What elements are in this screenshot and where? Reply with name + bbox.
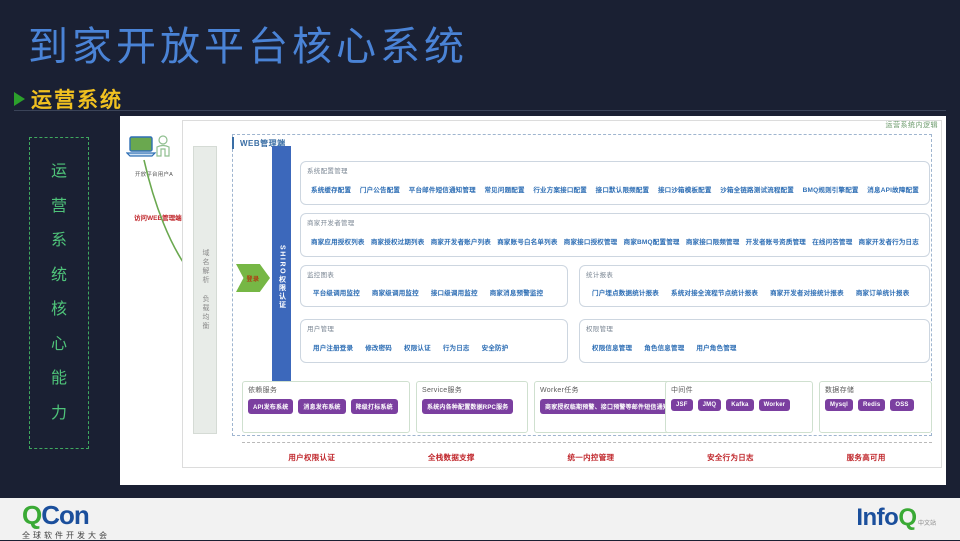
- logic-tag-label: 运营系统内逻辑: [886, 120, 939, 130]
- capability-vertical-box: 运 营 系 统 核 心 能 力: [29, 137, 89, 449]
- infra-chip[interactable]: Mysql: [825, 399, 853, 411]
- module-permission-management[interactable]: 权限管理 权限信息管理 角色信息管理 用户角色管理: [579, 319, 930, 363]
- module-item[interactable]: 商家订单统计报表: [856, 287, 910, 297]
- infra-title: 依赖服务: [248, 385, 404, 395]
- module-item[interactable]: 商家授权过期列表: [371, 236, 425, 246]
- infra-chip[interactable]: 系统内各种配置数据RPC服务: [422, 399, 513, 414]
- module-title: 商家开发者管理: [307, 217, 923, 227]
- module-items: 用户注册登录 修改密码 权限认证 行为日志 安全防护: [307, 333, 561, 361]
- module-item[interactable]: 商家开发者账户列表: [431, 236, 491, 246]
- module-item[interactable]: 商家开发者行为日志: [859, 236, 919, 246]
- infra-title: Worker任务: [540, 385, 678, 395]
- module-user-management[interactable]: 用户管理 用户注册登录 修改密码 权限认证 行为日志 安全防护: [300, 319, 568, 363]
- module-items: 商家应用授权列表 商家授权过期列表 商家开发者账户列表 商家账号白名单列表 商家…: [307, 227, 923, 255]
- infra-chip[interactable]: OSS: [890, 399, 913, 411]
- module-item[interactable]: 修改密码: [365, 342, 392, 352]
- actor-user-label: 开放平台用户A: [126, 170, 182, 178]
- infra-chips: API发布系统 消息发布系统 降级打标系统: [248, 399, 404, 414]
- capability-char: 力: [51, 406, 67, 422]
- module-item[interactable]: 商家级调用监控: [372, 287, 419, 297]
- module-item[interactable]: 商家消息预警监控: [490, 287, 544, 297]
- module-title: 权限管理: [586, 323, 923, 333]
- infra-chip[interactable]: API发布系统: [248, 399, 293, 414]
- infra-worker-task[interactable]: Worker任务 商家授权临期预警、接口预警等邮件短信通知: [534, 381, 684, 433]
- module-item[interactable]: 门户公告配置: [360, 184, 400, 194]
- infra-dependency-services[interactable]: 依赖服务 API发布系统 消息发布系统 降级打标系统: [242, 381, 410, 433]
- module-item[interactable]: 开发者账号资质管理: [746, 236, 806, 246]
- laptop-and-person-icon: [126, 134, 182, 164]
- infoq-logo: Info Q 中文站: [856, 506, 936, 530]
- slide-footer: QCon 全球软件开发大会 Info Q 中文站: [0, 494, 960, 540]
- capability-char: 系: [51, 233, 67, 249]
- module-item[interactable]: 接口级调用监控: [431, 287, 478, 297]
- shiro-auth-label: SHIRO权限认证: [277, 245, 287, 310]
- module-item[interactable]: 安全防护: [482, 342, 509, 352]
- login-label: 登录: [246, 274, 259, 283]
- infra-chips: 商家授权临期预警、接口预警等邮件短信通知: [540, 399, 678, 414]
- infra-data-storage[interactable]: 数据存储 Mysql Redis OSS: [819, 381, 932, 433]
- infra-chips: 系统内各种配置数据RPC服务: [422, 399, 522, 414]
- page-title: 到家开放平台核心系统: [28, 14, 468, 72]
- module-items: 门户埋点数据统计报表 系统对接全流程节点统计报表 商家开发者对接统计报表 商家订…: [586, 279, 923, 305]
- module-item[interactable]: 消息API故障配置: [867, 184, 919, 194]
- infra-chip[interactable]: JSF: [671, 399, 693, 411]
- module-item[interactable]: 角色信息管理: [644, 342, 684, 352]
- qcon-logo-con: Con: [41, 500, 89, 530]
- access-web-admin-label: 访问WEB管理端: [134, 212, 182, 222]
- infra-service[interactable]: Service服务 系统内各种配置数据RPC服务: [416, 381, 528, 433]
- module-item[interactable]: 接口默认限频配置: [596, 184, 650, 194]
- web-admin-accent-bar: [232, 137, 234, 149]
- infra-title: Service服务: [422, 385, 522, 395]
- bottom-capability-labels: 用户权限认证 全栈数据支撑 统一内控管理 安全行为日志 服务高可用: [242, 452, 932, 463]
- module-item[interactable]: 商家开发者对接统计报表: [770, 287, 844, 297]
- module-items: 权限信息管理 角色信息管理 用户角色管理: [586, 333, 923, 361]
- header-divider: [14, 110, 946, 111]
- module-items: 平台级调用监控 商家级调用监控 接口级调用监控 商家消息预警监控: [307, 279, 561, 305]
- dns-load-balancer-bar: 域名解析 负载均衡: [193, 146, 217, 434]
- module-item[interactable]: 平台级调用监控: [313, 287, 360, 297]
- module-item[interactable]: 行业方案接口配置: [533, 184, 587, 194]
- infoq-logo-info: Info: [856, 506, 898, 530]
- qcon-logo-subtitle: 全球软件开发大会: [22, 530, 110, 541]
- bottom-label: 服务高可用: [847, 452, 886, 463]
- module-item[interactable]: 门户埋点数据统计报表: [592, 287, 659, 297]
- infra-chip[interactable]: 降级打标系统: [351, 399, 398, 414]
- shiro-auth-bar: SHIRO权限认证: [272, 146, 291, 408]
- infra-chip[interactable]: Redis: [858, 399, 885, 411]
- module-item[interactable]: 商家接口限频管理: [686, 236, 740, 246]
- infra-chip[interactable]: Worker: [759, 399, 791, 411]
- infra-title: 中间件: [671, 385, 807, 395]
- lb-label: 负载均衡: [200, 295, 210, 331]
- qcon-logo: QCon 全球软件开发大会: [22, 502, 110, 541]
- capability-char: 核: [51, 302, 67, 318]
- module-item[interactable]: 系统缓存配置: [311, 184, 351, 194]
- capability-char: 统: [51, 268, 67, 284]
- infra-chip[interactable]: JMQ: [698, 399, 722, 411]
- module-merchant-developer[interactable]: 商家开发者管理 商家应用授权列表 商家授权过期列表 商家开发者账户列表 商家账号…: [300, 213, 930, 257]
- module-title: 系统配置管理: [307, 165, 923, 175]
- module-item[interactable]: 常见问题配置: [484, 184, 524, 194]
- infoq-logo-tm: 中文站: [918, 518, 936, 527]
- architecture-diagram: 开放平台用户A 访问WEB管理端 运营系统内逻辑 域名解析 负载均衡 WEB管理…: [120, 116, 946, 485]
- module-item[interactable]: 商家应用授权列表: [311, 236, 365, 246]
- module-system-config[interactable]: 系统配置管理 系统缓存配置 门户公告配置 平台邮件短信通知管理 常见问题配置 行…: [300, 161, 930, 205]
- infra-title: 数据存储: [825, 385, 926, 395]
- dns-label: 域名解析: [200, 249, 210, 285]
- module-monitoring-charts[interactable]: 监控图表 平台级调用监控 商家级调用监控 接口级调用监控 商家消息预警监控: [300, 265, 568, 307]
- module-items: 系统缓存配置 门户公告配置 平台邮件短信通知管理 常见问题配置 行业方案接口配置…: [307, 175, 923, 203]
- module-title: 统计报表: [586, 269, 923, 279]
- module-item[interactable]: 沙箱全链路测试流程配置: [720, 184, 794, 194]
- bottom-label: 统一内控管理: [568, 452, 615, 463]
- capability-char: 营: [51, 199, 67, 215]
- infra-chips: JSF JMQ Kafka Worker: [671, 399, 807, 411]
- capability-char: 能: [51, 371, 67, 387]
- capability-char: 心: [51, 337, 67, 353]
- bottom-label: 用户权限认证: [288, 452, 335, 463]
- bottom-label: 安全行为日志: [707, 452, 754, 463]
- actor-user-group: 开放平台用户A: [126, 134, 182, 178]
- infra-chips: Mysql Redis OSS: [825, 399, 926, 411]
- capability-char: 运: [51, 164, 67, 180]
- module-item[interactable]: 接口沙箱模板配置: [658, 184, 712, 194]
- infra-chip[interactable]: Kafka: [726, 399, 753, 411]
- footer-accent-strip: [0, 494, 960, 498]
- infra-chip[interactable]: 商家授权临期预警、接口预警等邮件短信通知: [540, 399, 674, 414]
- module-item[interactable]: 用户注册登录: [313, 342, 353, 352]
- module-item[interactable]: 商家BMQ配置管理: [624, 236, 680, 246]
- infra-middleware[interactable]: 中间件 JSF JMQ Kafka Worker: [665, 381, 813, 433]
- module-title: 监控图表: [307, 269, 561, 279]
- module-item[interactable]: 商家账号白名单列表: [497, 236, 557, 246]
- infoq-logo-q: Q: [898, 506, 917, 530]
- module-item[interactable]: 在线问答管理: [812, 236, 852, 246]
- module-statistics-reports[interactable]: 统计报表 门户埋点数据统计报表 系统对接全流程节点统计报表 商家开发者对接统计报…: [579, 265, 930, 307]
- module-item[interactable]: 商家接口授权管理: [564, 236, 618, 246]
- module-item[interactable]: 平台邮件短信通知管理: [409, 184, 476, 194]
- module-item[interactable]: 行为日志: [443, 342, 470, 352]
- triangle-bullet-icon: [14, 92, 25, 106]
- bottom-divider: [242, 442, 932, 443]
- module-item[interactable]: 权限信息管理: [592, 342, 632, 352]
- module-item[interactable]: BMQ规则引擎配置: [803, 184, 859, 194]
- module-item[interactable]: 系统对接全流程节点统计报表: [671, 287, 758, 297]
- infra-chip[interactable]: 消息发布系统: [298, 399, 345, 414]
- qcon-logo-text: QCon: [22, 502, 110, 528]
- bottom-label: 全栈数据支撑: [428, 452, 475, 463]
- qcon-logo-q: Q: [22, 500, 41, 530]
- module-title: 用户管理: [307, 323, 561, 333]
- module-item[interactable]: 用户角色管理: [696, 342, 736, 352]
- module-item[interactable]: 权限认证: [404, 342, 431, 352]
